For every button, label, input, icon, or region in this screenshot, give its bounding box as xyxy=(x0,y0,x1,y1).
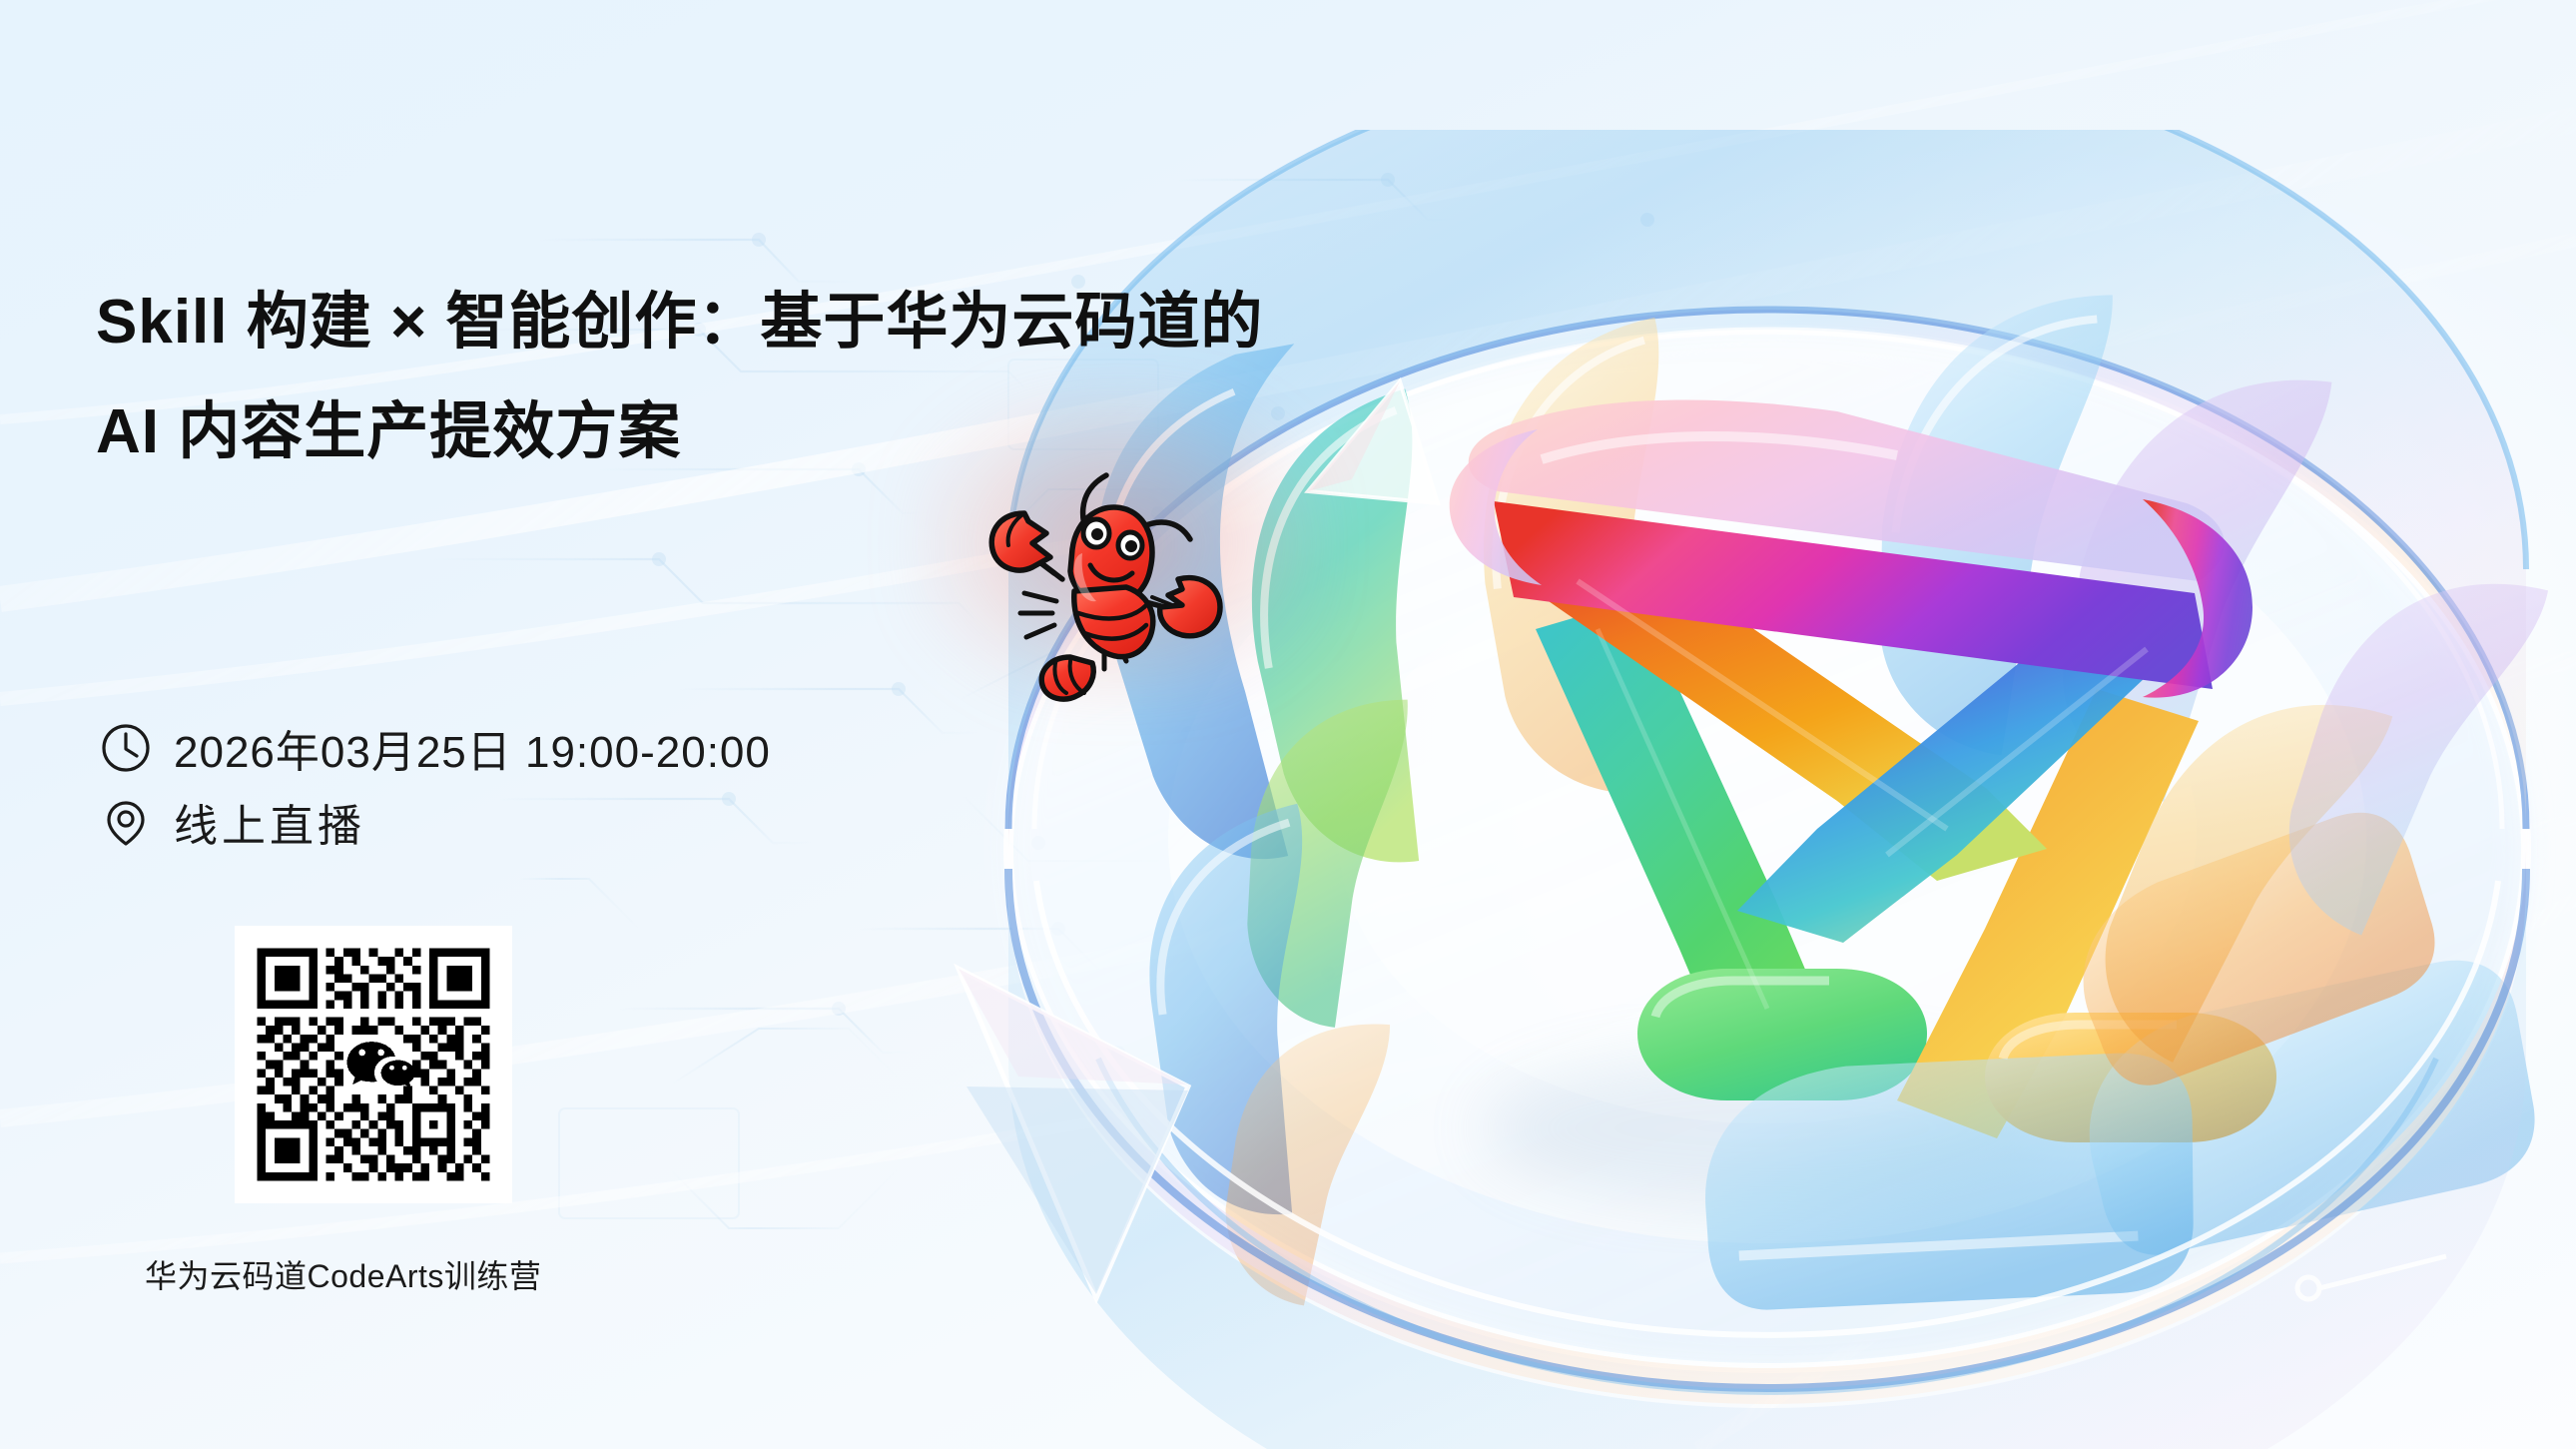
clock-icon xyxy=(100,722,152,774)
wechat-qr-code[interactable] xyxy=(235,926,512,1203)
event-datetime: 2026年03月25日 19:00-20:00 xyxy=(174,716,771,780)
meta-row-datetime: 2026年03月25日 19:00-20:00 xyxy=(100,711,771,785)
event-promo-banner: Skill 构建 × 智能创作：基于华为云码道的 AI 内容生产提效方案 202… xyxy=(0,0,2576,1449)
page-title: Skill 构建 × 智能创作：基于华为云码道的 AI 内容生产提效方案 xyxy=(96,268,1194,487)
event-location: 线上直播 xyxy=(174,790,365,854)
meta-row-location: 线上直播 xyxy=(100,785,771,859)
title-line-2: AI 内容生产提效方案 xyxy=(96,377,1194,487)
content-column: Skill 构建 × 智能创作：基于华为云码道的 AI 内容生产提效方案 202… xyxy=(0,0,1198,1449)
qr-code-block[interactable] xyxy=(235,926,512,1203)
map-pin-icon xyxy=(100,796,152,848)
title-line-1: Skill 构建 × 智能创作：基于华为云码道的 xyxy=(96,268,1194,377)
qr-caption: 华为云码道CodeArts训练营 xyxy=(145,1251,664,1297)
event-meta: 2026年03月25日 19:00-20:00 线上直播 xyxy=(100,711,771,859)
